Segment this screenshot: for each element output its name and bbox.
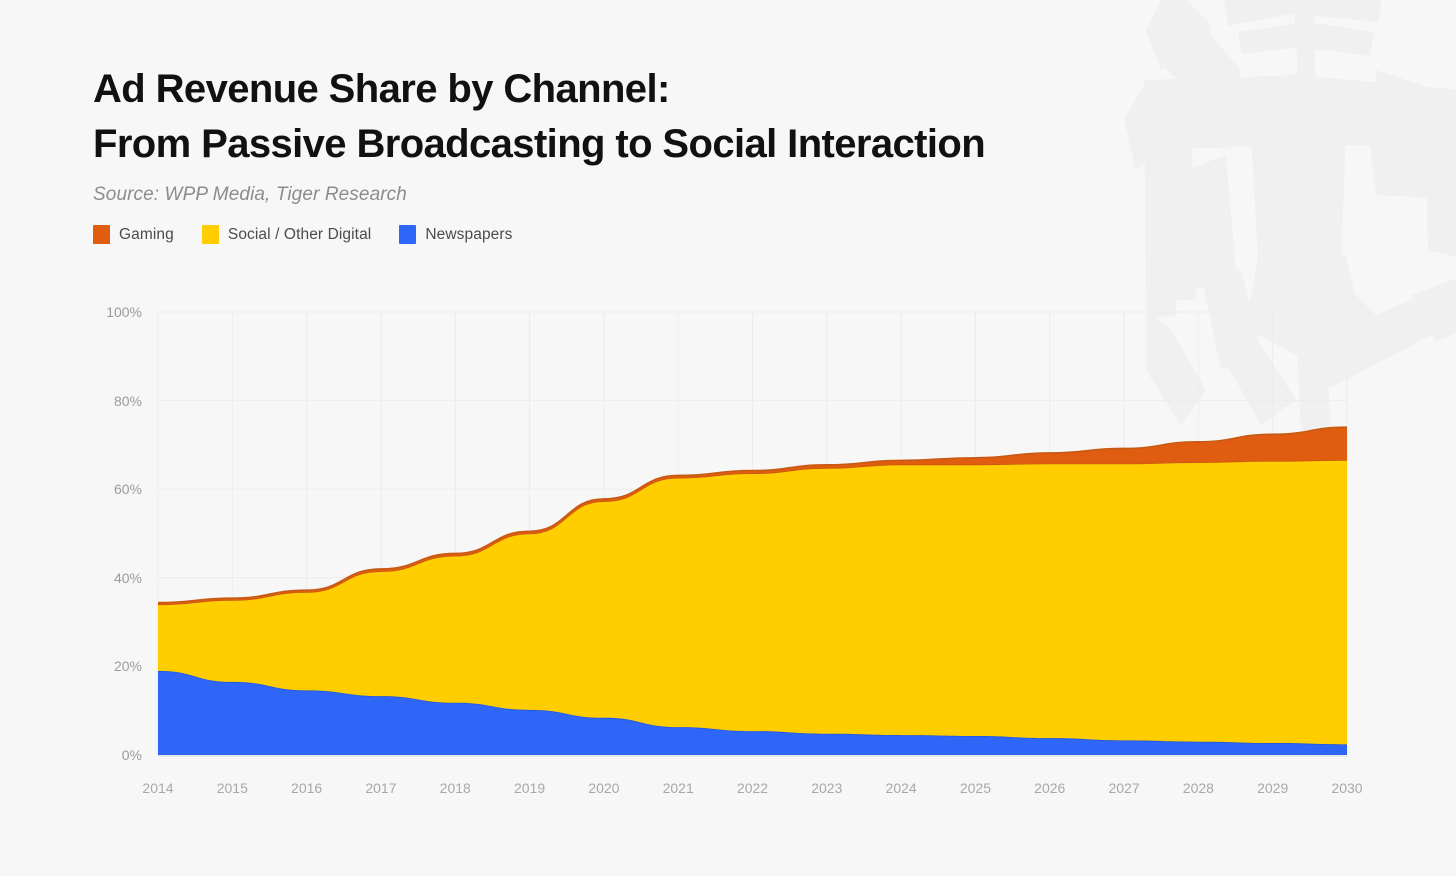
x-axis-tick-label: 2029: [1257, 780, 1288, 796]
x-axis-tick-label: 2024: [886, 780, 917, 796]
x-axis-tick-label: 2025: [960, 780, 991, 796]
y-axis-tick-label: 60%: [82, 481, 142, 497]
x-axis-tick-label: 2030: [1331, 780, 1362, 796]
x-axis-tick-label: 2026: [1034, 780, 1065, 796]
x-axis-tick-label: 2016: [291, 780, 322, 796]
x-axis-tick-label: 2028: [1183, 780, 1214, 796]
x-axis-tick-label: 2017: [365, 780, 396, 796]
x-axis-tick-label: 2023: [811, 780, 842, 796]
x-axis-tick-label: 2019: [514, 780, 545, 796]
chart-series-areas: [158, 427, 1347, 755]
stacked-area-chart-svg: [0, 0, 1456, 876]
x-axis-tick-label: 2021: [663, 780, 694, 796]
y-axis-tick-label: 100%: [82, 304, 142, 320]
chart-page: Ad Revenue Share by Channel: From Passiv…: [0, 0, 1456, 876]
x-axis-tick-label: 2014: [142, 780, 173, 796]
x-axis-tick-label: 2027: [1108, 780, 1139, 796]
x-axis-tick-label: 2020: [588, 780, 619, 796]
x-axis-tick-label: 2018: [440, 780, 471, 796]
chart-plot-area: 0%20%40%60%80%100% 201420152016201720182…: [0, 0, 1456, 876]
x-axis-tick-label: 2022: [737, 780, 768, 796]
x-axis-tick-label: 2015: [217, 780, 248, 796]
y-axis-tick-label: 40%: [82, 570, 142, 586]
y-axis-tick-label: 80%: [82, 393, 142, 409]
y-axis-tick-label: 20%: [82, 658, 142, 674]
y-axis-tick-label: 0%: [82, 747, 142, 763]
